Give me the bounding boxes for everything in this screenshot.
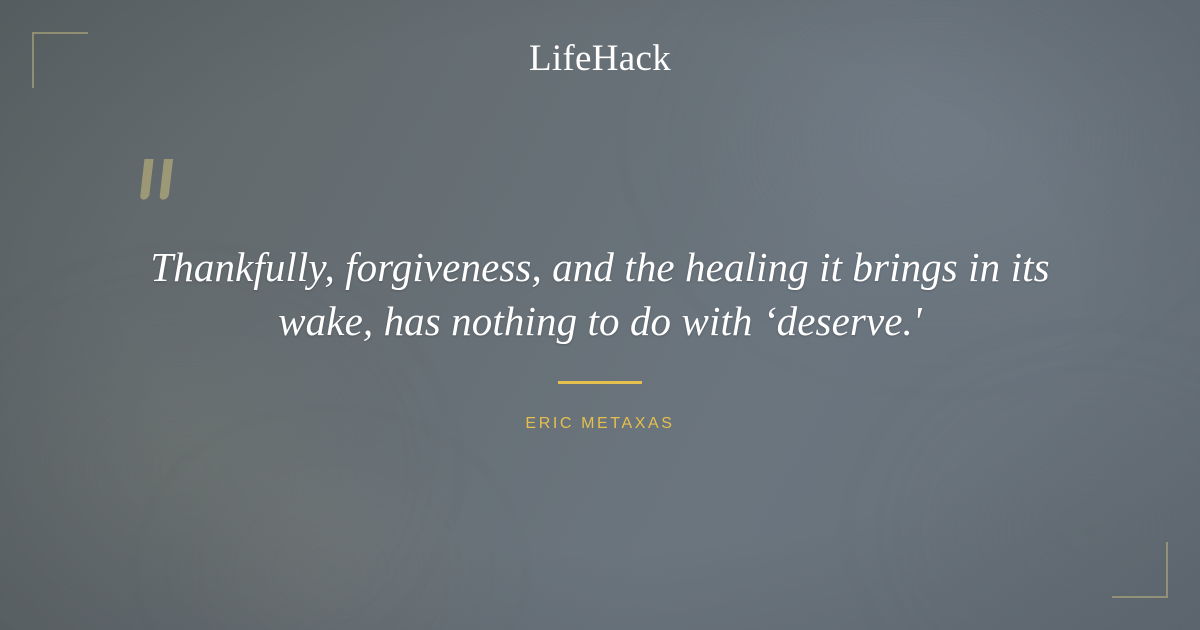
corner-bracket-bottom-right-icon xyxy=(1112,542,1168,598)
quote-line-1: Thankfully, forgiveness, and the healing… xyxy=(110,240,1090,294)
gold-divider xyxy=(558,381,642,384)
corner-bracket-horizontal-bar xyxy=(1112,596,1168,598)
brand-logo: LifeHack xyxy=(0,40,1200,77)
quote-line-2: wake, has nothing to do with ‘deserve.' xyxy=(110,294,1090,348)
corner-bracket-horizontal-bar xyxy=(32,32,88,34)
double-quote-icon xyxy=(131,147,201,217)
quote-card: LifeHack Thankfully, forgiveness, and th… xyxy=(0,0,1200,630)
quote-author: ERIC METAXAS xyxy=(0,414,1200,433)
corner-bracket-vertical-bar xyxy=(1166,542,1168,598)
quote-text: Thankfully, forgiveness, and the healing… xyxy=(110,240,1090,348)
